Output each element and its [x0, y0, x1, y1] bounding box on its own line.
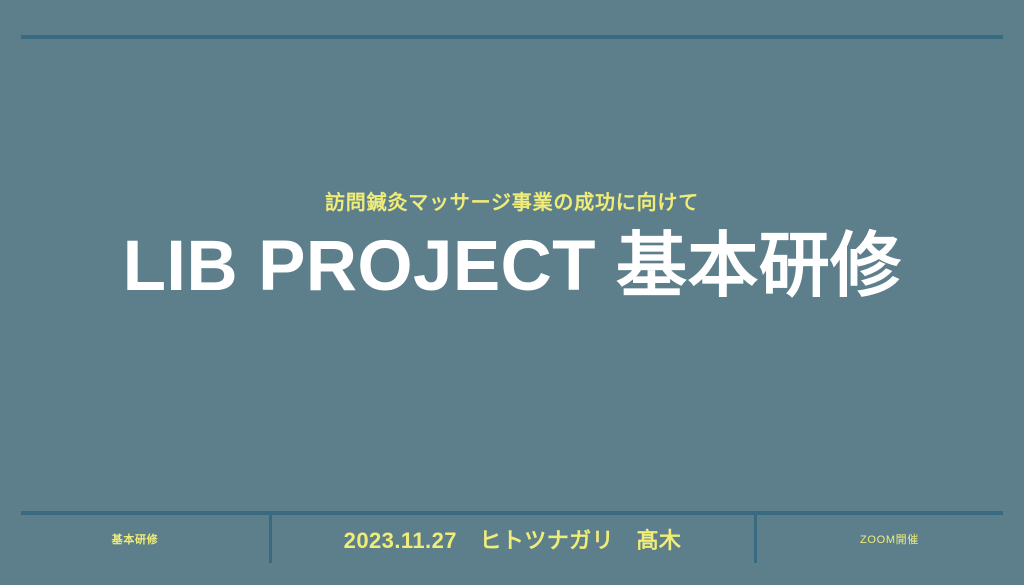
top-divider-rule: [21, 35, 1003, 39]
footer-vertical-divider-right: [754, 513, 757, 563]
footer-left-label: 基本研修: [0, 515, 270, 563]
slide-subtitle: 訪問鍼灸マッサージ事業の成功に向けて: [0, 190, 1024, 217]
footer-center-label: 2023.11.27 ヒトツナガリ 髙木: [270, 515, 755, 563]
footer-vertical-divider-left: [269, 513, 272, 563]
title-block: 訪問鍼灸マッサージ事業の成功に向けて LIB PROJECT 基本研修: [0, 190, 1024, 309]
presentation-slide: 訪問鍼灸マッサージ事業の成功に向けて LIB PROJECT 基本研修 基本研修…: [0, 0, 1024, 585]
footer-right-label: ZOOM開催: [755, 515, 1024, 563]
slide-footer: 基本研修 2023.11.27 ヒトツナガリ 髙木 ZOOM開催: [0, 515, 1024, 563]
slide-title: LIB PROJECT 基本研修: [0, 225, 1024, 309]
